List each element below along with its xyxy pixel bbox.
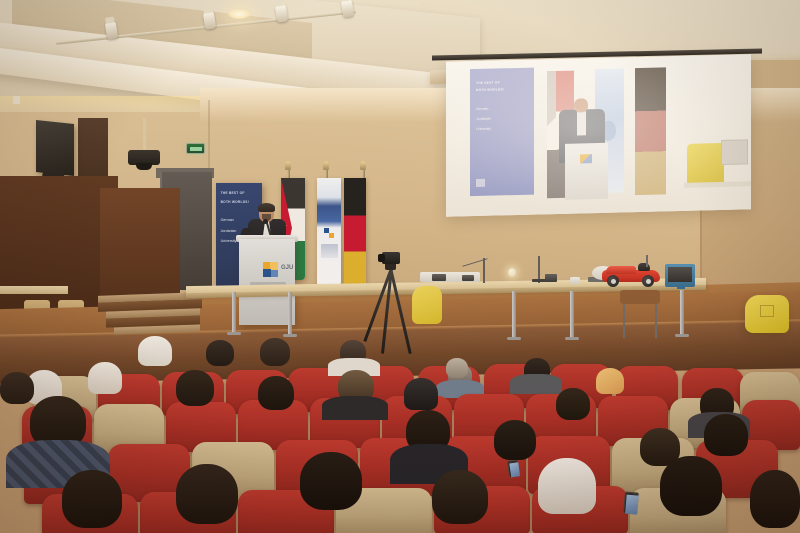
wall-plate xyxy=(13,96,20,104)
apparatus-base xyxy=(532,279,546,282)
wall-dark-panel xyxy=(78,118,108,184)
projected-banner: THE BEST OF BOTH WORLDS! German Jordania… xyxy=(470,67,534,196)
table-foot xyxy=(283,334,297,337)
gju-flag-wordmark xyxy=(321,244,338,258)
exit-sign-icon xyxy=(186,143,205,154)
projected-banner-org2: Jordanian xyxy=(476,116,529,122)
toy-car xyxy=(602,262,660,286)
table-foot xyxy=(227,332,241,335)
projected-monitor xyxy=(721,140,748,165)
projected-lectern-logo-icon xyxy=(580,154,592,164)
projected-yellow-object xyxy=(687,143,724,186)
smartphone[interactable] xyxy=(623,491,639,514)
projection-screen: THE BEST OF BOTH WORLDS! German Jordania… xyxy=(446,54,751,216)
auditorium-photo: THE BEST OF BOTH WORLDS! German Jordania… xyxy=(0,0,800,533)
camera-lens-icon xyxy=(378,254,385,262)
audience-member-head xyxy=(538,458,596,514)
microphone-icon xyxy=(263,219,268,224)
apparatus-box xyxy=(545,274,557,282)
audience-member-head xyxy=(260,338,290,366)
audience-member-head xyxy=(0,372,34,404)
projected-banner-line2: BOTH WORLDS! xyxy=(476,87,529,93)
table-leg xyxy=(512,291,516,339)
table-foot xyxy=(507,337,521,340)
audience-member-shoulders xyxy=(322,396,388,420)
projected-banner-org3: University xyxy=(476,126,529,132)
projector-lens-icon xyxy=(136,163,152,170)
table-foot xyxy=(565,337,579,340)
audience-member-head xyxy=(176,464,238,524)
small-bottle xyxy=(570,277,580,284)
electronics-module xyxy=(432,274,446,281)
audience-member-shoulders xyxy=(510,374,562,394)
projected-lectern xyxy=(565,143,608,200)
beanbag-label xyxy=(760,305,774,317)
monitor-screen xyxy=(668,267,692,282)
banner-line1: THE BEST OF xyxy=(221,191,260,196)
flag-finial-icon xyxy=(360,161,366,170)
lectern-gju-logo-icon xyxy=(263,262,278,277)
audience-member-head xyxy=(300,452,362,510)
audience-member-head xyxy=(446,358,468,378)
audience-member-head xyxy=(556,388,590,420)
side-table xyxy=(0,286,68,294)
table-leg xyxy=(680,290,684,336)
projected-banner-line1: THE BEST OF xyxy=(476,80,529,86)
audience-member-head xyxy=(138,336,172,366)
table-leg xyxy=(288,292,292,336)
audience-member-head xyxy=(206,340,234,366)
table-foot xyxy=(675,334,689,337)
apparatus-stand xyxy=(483,258,485,283)
audience-member-head xyxy=(404,378,438,410)
audience-member-head xyxy=(750,470,800,528)
track-spotlight-icon xyxy=(341,0,355,18)
lectern-logo-text: GJU xyxy=(281,265,293,271)
audience-member-head xyxy=(62,470,122,528)
flag-finial-icon xyxy=(285,161,291,170)
smartphone[interactable] xyxy=(507,459,520,477)
recessed-downlight-icon xyxy=(226,8,252,20)
audience-member-head xyxy=(176,370,214,406)
projected-flag-germany xyxy=(635,67,666,195)
audience-member-head xyxy=(494,420,536,460)
audience-member-head xyxy=(432,470,488,524)
projected-speaker-shirt xyxy=(577,111,586,136)
audience-member-head xyxy=(596,368,624,394)
audience-member-head xyxy=(660,456,722,516)
projected-image: THE BEST OF BOTH WORLDS! German Jordania… xyxy=(446,54,751,216)
yellow-beanbag-small xyxy=(412,286,442,324)
table-leg xyxy=(232,292,236,334)
projected-banner-org: German xyxy=(476,106,529,112)
monitor-stand xyxy=(677,286,685,289)
small-monitor xyxy=(665,264,695,287)
audience-member-head xyxy=(258,376,294,410)
projector-mount-rod xyxy=(143,118,146,152)
flag-gju xyxy=(317,178,341,286)
audience-member-head xyxy=(704,414,748,456)
table-leg xyxy=(570,291,574,339)
stage-chair[interactable] xyxy=(620,290,660,340)
projected-banner-logo-icon xyxy=(476,179,485,187)
banner-line2: BOTH WORLDS! xyxy=(221,200,260,205)
flag-finial-icon xyxy=(323,161,329,170)
gju-flag-logo-icon xyxy=(324,228,334,238)
presenter-hair xyxy=(258,203,275,212)
electronics-module xyxy=(462,275,474,281)
lamp-bulb-icon xyxy=(508,268,516,277)
flag-germany xyxy=(344,178,366,288)
audience-member-head xyxy=(88,362,122,394)
wall-loudspeaker-icon xyxy=(36,120,74,176)
